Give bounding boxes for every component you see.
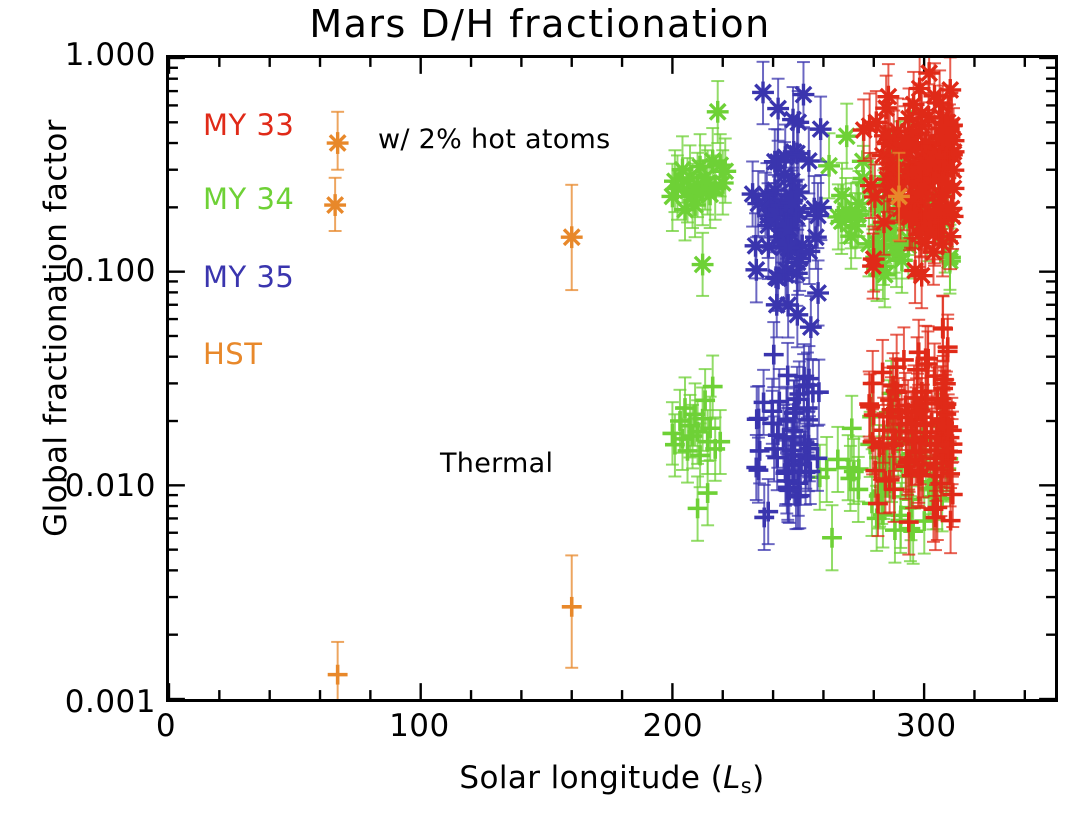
x-tick-label: 100: [389, 708, 450, 744]
chart-title: Mars D/H fractionation: [0, 2, 1080, 46]
y-axis-title: Global fractionation factor: [38, 0, 74, 658]
legend-entry-my-35: MY 35: [203, 260, 294, 294]
x-axis-title-subscript: s: [741, 774, 752, 798]
y-tick-label: 0.010: [65, 468, 156, 504]
x-tick-label: 300: [896, 708, 957, 744]
y-tick-label: 1.000: [65, 37, 156, 73]
y-tick-label: 0.100: [65, 253, 156, 289]
y-axis-tick-labels: 1.0000.1000.0100.001: [0, 55, 156, 702]
annotation-1: w/ 2% hot atoms: [378, 124, 611, 155]
plot-area: [166, 55, 1058, 702]
x-tick-label: 200: [642, 708, 703, 744]
legend-entry-my-33: MY 33: [203, 108, 294, 142]
legend-entry-my-34: MY 34: [203, 182, 294, 216]
x-axis-title: Solar longitude (Ls): [166, 760, 1058, 798]
data-layer: [169, 58, 1055, 699]
annotation-2: Thermal: [440, 448, 553, 479]
x-axis-title-symbol: L: [723, 760, 741, 796]
series-group: [742, 62, 832, 550]
x-tick-label: 0: [156, 708, 176, 744]
legend-entry-hst: HST: [203, 337, 262, 371]
x-axis-tick-labels: 0100200300: [166, 708, 1058, 750]
series-group: [661, 81, 736, 541]
series-group: [853, 58, 965, 555]
figure-canvas: Mars D/H fractionation 1.0000.1000.0100.…: [0, 0, 1080, 813]
y-tick-label: 0.001: [65, 684, 156, 720]
